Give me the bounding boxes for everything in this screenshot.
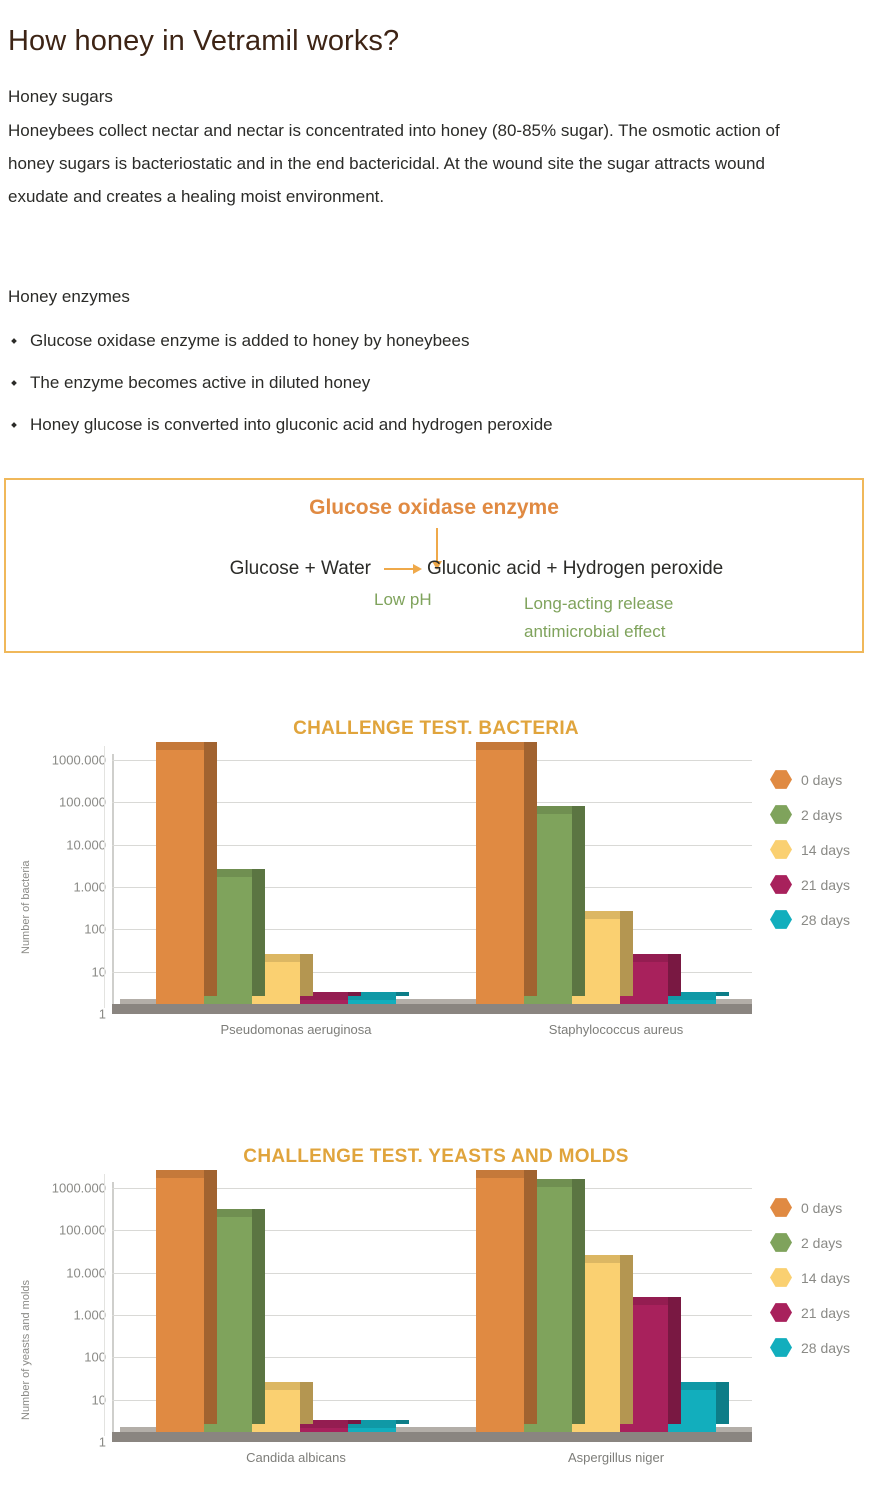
plot-floor	[112, 1432, 752, 1442]
honey-enzymes-heading: Honey enzymes	[8, 284, 828, 310]
bar-side	[572, 1179, 585, 1424]
hexagon-swatch-icon	[770, 1198, 792, 1218]
reaction-caption-low-ph: Low pH	[374, 590, 432, 610]
legend-item-label: 21 days	[801, 877, 850, 893]
y-axis-tick-label: 100.000	[59, 1223, 106, 1238]
bars-container	[112, 754, 752, 1004]
y-axis-tick-label: 1000.000	[52, 1181, 106, 1196]
hexagon-swatch-icon	[770, 1233, 792, 1253]
honey-enzymes-section: Honey enzymes Glucose oxidase enzyme is …	[8, 284, 828, 446]
x-axis-tick-label: Candida albicans	[246, 1450, 346, 1465]
y-axis-tick-label: 10.000	[66, 1265, 106, 1280]
plot	[112, 754, 752, 1014]
chart-legend: 0 days2 days14 days21 days28 days	[770, 762, 872, 937]
honey-enzymes-list: Glucose oxidase enzyme is added to honey…	[8, 320, 828, 446]
plot	[112, 1182, 752, 1442]
x-axis-tick-label: Aspergillus niger	[568, 1450, 664, 1465]
honey-sugars-heading: Honey sugars	[8, 84, 808, 110]
page-title: How honey in Vetramil works?	[8, 25, 399, 58]
bar-face	[668, 1000, 716, 1004]
legend-item-label: 0 days	[801, 772, 842, 788]
bar-face	[156, 1178, 204, 1432]
y-axis-back-line	[104, 1174, 105, 1436]
legend-item[interactable]: 21 days	[770, 1295, 872, 1330]
legend-item-label: 2 days	[801, 807, 842, 823]
bar-side	[204, 1170, 217, 1424]
bar-face	[476, 1178, 524, 1432]
legend-item[interactable]: 2 days	[770, 797, 872, 832]
legend-item-label: 28 days	[801, 912, 850, 928]
legend-item[interactable]: 21 days	[770, 867, 872, 902]
legend-item-label: 28 days	[801, 1340, 850, 1356]
y-axis-tick-label: 100	[84, 922, 106, 937]
bar-face	[156, 750, 204, 1004]
legend-item-label: 21 days	[801, 1305, 850, 1321]
legend-item[interactable]: 0 days	[770, 1190, 872, 1225]
bullet-dot-icon	[11, 422, 17, 428]
list-item-label: Glucose oxidase enzyme is added to honey…	[30, 331, 469, 350]
x-axis-tick-labels: Pseudomonas aeruginosaStaphylococcus aur…	[112, 1022, 752, 1048]
bar-side	[668, 1297, 681, 1424]
bar-side	[620, 1255, 633, 1424]
bar	[300, 1428, 348, 1432]
x-axis-tick-label: Staphylococcus aureus	[549, 1022, 683, 1037]
chart-title: CHALLENGE TEST. YEASTS AND MOLDS	[0, 1146, 872, 1168]
x-axis-tick-labels: Candida albicansAspergillus niger	[112, 1450, 752, 1476]
bar-side	[620, 911, 633, 996]
y-axis-tick-label: 1.000	[73, 880, 106, 895]
bar-face	[476, 750, 524, 1004]
document-page: How honey in Vetramil works? Honey sugar…	[0, 0, 872, 1500]
bar	[476, 1178, 524, 1432]
reaction-diagram: Glucose oxidase enzyme Glucose + Water G…	[4, 478, 864, 653]
chart-legend: 0 days2 days14 days21 days28 days	[770, 1190, 872, 1365]
bar-side	[572, 806, 585, 996]
hexagon-swatch-icon	[770, 770, 792, 790]
chart-plot-area: Number of bacteria 1000.000100.00010.000…	[0, 754, 872, 1054]
honey-sugars-paragraph: Honeybees collect nectar and nectar is c…	[8, 114, 803, 213]
list-item: Glucose oxidase enzyme is added to honey…	[8, 320, 828, 362]
honey-sugars-section: Honey sugars Honeybees collect nectar an…	[8, 84, 808, 213]
list-item: The enzyme becomes active in diluted hon…	[8, 362, 828, 404]
bars-container	[112, 1182, 752, 1432]
y-axis-tick-label: 10.000	[66, 837, 106, 852]
reaction-reactants: Glucose + Water	[81, 558, 371, 580]
bar-side	[524, 742, 537, 996]
legend-item-label: 14 days	[801, 842, 850, 858]
bar	[300, 1000, 348, 1004]
arrow-down-icon	[436, 528, 438, 562]
bar	[668, 1000, 716, 1004]
bar-side	[252, 1209, 265, 1424]
bar	[156, 1178, 204, 1432]
bar-side	[252, 869, 265, 996]
legend-item-label: 2 days	[801, 1235, 842, 1251]
list-item-label: Honey glucose is converted into gluconic…	[30, 415, 553, 434]
reaction-enzyme-label: Glucose oxidase enzyme	[6, 496, 862, 520]
legend-item[interactable]: 28 days	[770, 1330, 872, 1365]
plot-floor	[112, 1004, 752, 1014]
bar-face	[300, 1000, 348, 1004]
bar-face	[300, 1428, 348, 1432]
legend-item-label: 14 days	[801, 1270, 850, 1286]
reaction-caption-line1: Long-acting release	[524, 590, 673, 618]
list-item-label: The enzyme becomes active in diluted hon…	[30, 373, 370, 392]
bar	[156, 750, 204, 1004]
hexagon-swatch-icon	[770, 840, 792, 860]
legend-item[interactable]: 14 days	[770, 832, 872, 867]
reaction-caption-line2: antimicrobial effect	[524, 618, 673, 646]
legend-item[interactable]: 2 days	[770, 1225, 872, 1260]
reaction-equation: Glucose + Water Gluconic acid + Hydrogen…	[6, 558, 862, 580]
y-axis-tick-label: 1.000	[73, 1308, 106, 1323]
hexagon-swatch-icon	[770, 1338, 792, 1358]
hexagon-swatch-icon	[770, 910, 792, 930]
legend-item-label: 0 days	[801, 1200, 842, 1216]
x-axis-tick-label: Pseudomonas aeruginosa	[220, 1022, 371, 1037]
y-axis-back-line	[104, 746, 105, 1008]
legend-item[interactable]: 0 days	[770, 762, 872, 797]
chart-yeasts-molds: CHALLENGE TEST. YEASTS AND MOLDS Number …	[0, 1146, 872, 1482]
hexagon-swatch-icon	[770, 805, 792, 825]
chart-title: CHALLENGE TEST. BACTERIA	[0, 718, 872, 740]
y-axis-tick-label: 1	[99, 1435, 106, 1450]
bar-side	[204, 742, 217, 996]
list-item: Honey glucose is converted into gluconic…	[8, 404, 828, 446]
reaction-products: Gluconic acid + Hydrogen peroxide	[427, 558, 787, 580]
y-axis-tick-label: 100	[84, 1350, 106, 1365]
bullet-dot-icon	[11, 338, 17, 344]
y-axis-tick-label: 100.000	[59, 795, 106, 810]
y-axis-tick-labels: 1000.000100.00010.0001.000100101	[24, 1182, 106, 1442]
hexagon-swatch-icon	[770, 1268, 792, 1288]
bullet-dot-icon	[11, 380, 17, 386]
y-axis-tick-labels: 1000.000100.00010.0001.000100101	[24, 754, 106, 1014]
y-axis-tick-label: 1000.000	[52, 753, 106, 768]
hexagon-swatch-icon	[770, 875, 792, 895]
chart-bacteria: CHALLENGE TEST. BACTERIA Number of bacte…	[0, 718, 872, 1054]
hexagon-swatch-icon	[770, 1303, 792, 1323]
arrow-right-icon	[371, 568, 427, 570]
legend-item[interactable]: 14 days	[770, 1260, 872, 1295]
bar	[476, 750, 524, 1004]
reaction-caption-long-acting: Long-acting release antimicrobial effect	[524, 590, 673, 646]
bar-side	[524, 1170, 537, 1424]
chart-plot-area: Number of yeasts and molds 1000.000100.0…	[0, 1182, 872, 1482]
y-axis-tick-label: 1	[99, 1007, 106, 1022]
legend-item[interactable]: 28 days	[770, 902, 872, 937]
